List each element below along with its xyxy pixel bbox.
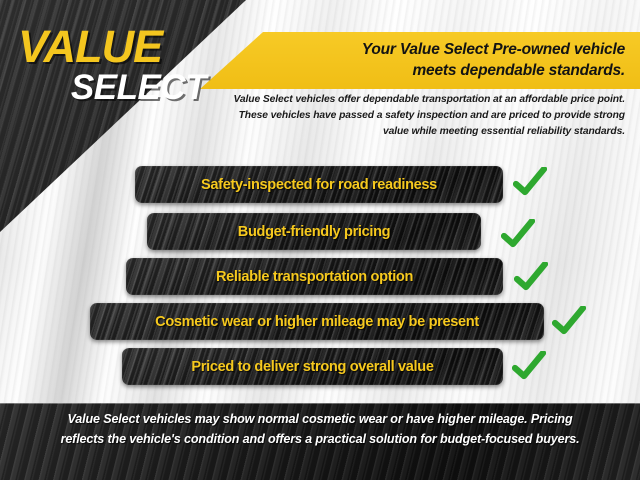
feature-label: Budget-friendly pricing <box>238 224 390 240</box>
feature-row: Cosmetic wear or higher mileage may be p… <box>90 303 544 340</box>
feature-label: Priced to deliver strong overall value <box>191 359 433 375</box>
feature-label: Reliable transportation option <box>216 269 413 285</box>
feature-pill: Reliable transportation option <box>126 258 503 295</box>
check-mark-icon <box>514 262 548 292</box>
feature-row: Priced to deliver strong overall value <box>122 348 503 385</box>
feature-row: Budget-friendly pricing <box>147 213 481 250</box>
feature-pill: Cosmetic wear or higher mileage may be p… <box>90 303 544 340</box>
disclaimer-bar: Value Select vehicles may show normal co… <box>0 403 640 480</box>
check-mark-icon <box>501 219 535 249</box>
disclaimer-text: Value Select vehicles may show normal co… <box>55 410 585 450</box>
footer-highlight-line <box>0 403 640 404</box>
check-mark-icon <box>512 351 546 381</box>
value-select-banner: Your Value Select Pre-owned vehicle meet… <box>0 0 640 480</box>
feature-pill: Priced to deliver strong overall value <box>122 348 503 385</box>
feature-label: Safety-inspected for road readiness <box>201 177 437 193</box>
feature-row: Safety-inspected for road readiness <box>135 166 503 203</box>
feature-pill: Budget-friendly pricing <box>147 213 481 250</box>
check-mark-icon <box>552 306 586 336</box>
feature-row: Reliable transportation option <box>126 258 503 295</box>
feature-label: Cosmetic wear or higher mileage may be p… <box>155 314 479 330</box>
feature-pill: Safety-inspected for road readiness <box>135 166 503 203</box>
check-mark-icon <box>513 167 547 197</box>
